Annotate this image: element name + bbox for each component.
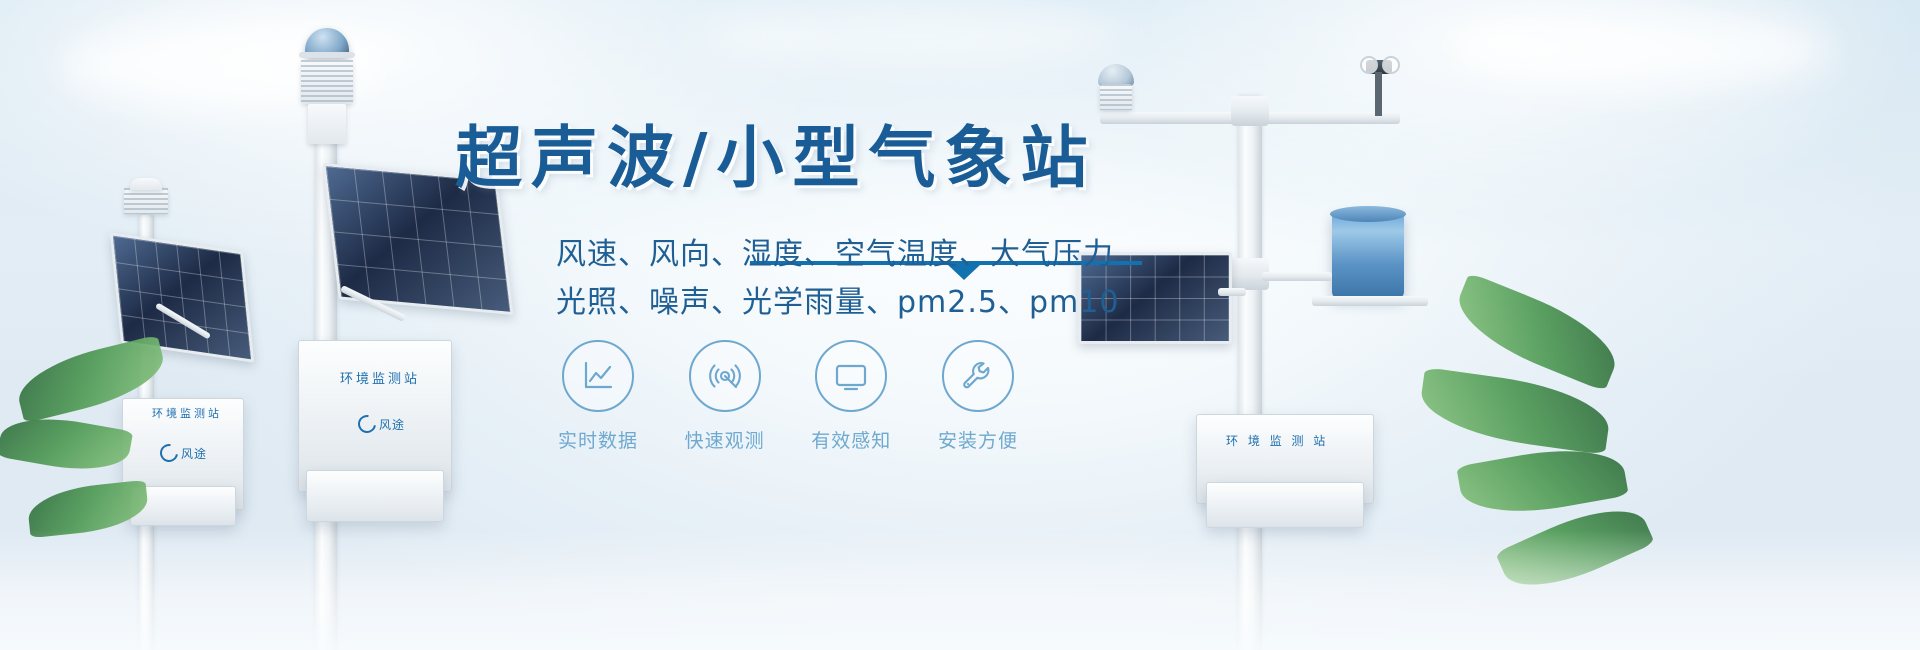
feature-item-realtime-data[interactable]: 实时数据 (548, 340, 648, 460)
feature-list: 实时数据 快速观测 (548, 340, 1028, 460)
subtitle-line-1: 风速、风向、湿度、空气温度、大气压力 (556, 235, 1114, 275)
feature-item-fast-observation[interactable]: 快速观测 (675, 340, 775, 460)
banner-stage: 环境监测站 风途 环境监测站 风途 (0, 0, 1920, 650)
feature-label: 有效感知 (811, 426, 891, 453)
monitor-display-icon (815, 340, 887, 412)
feature-item-easy-installation[interactable]: 安装方便 (928, 340, 1028, 460)
feature-label: 快速观测 (685, 426, 765, 453)
wrench-tool-icon (942, 340, 1014, 412)
feature-label: 实时数据 (558, 426, 638, 453)
subtitle-line-2: 光照、噪声、光学雨量、pm2.5、pm10 (556, 283, 1119, 323)
feature-label: 安装方便 (938, 426, 1018, 453)
banner-content: 超声波/小型气象站 风速、风向、湿度、空气温度、大气压力 光照、噪声、光学雨量、… (0, 0, 1920, 650)
feature-item-effective-sensing[interactable]: 有效感知 (801, 340, 901, 460)
page-title: 超声波/小型气象站 (455, 117, 1115, 199)
radar-signal-icon (689, 340, 761, 412)
line-chart-icon (562, 340, 634, 412)
